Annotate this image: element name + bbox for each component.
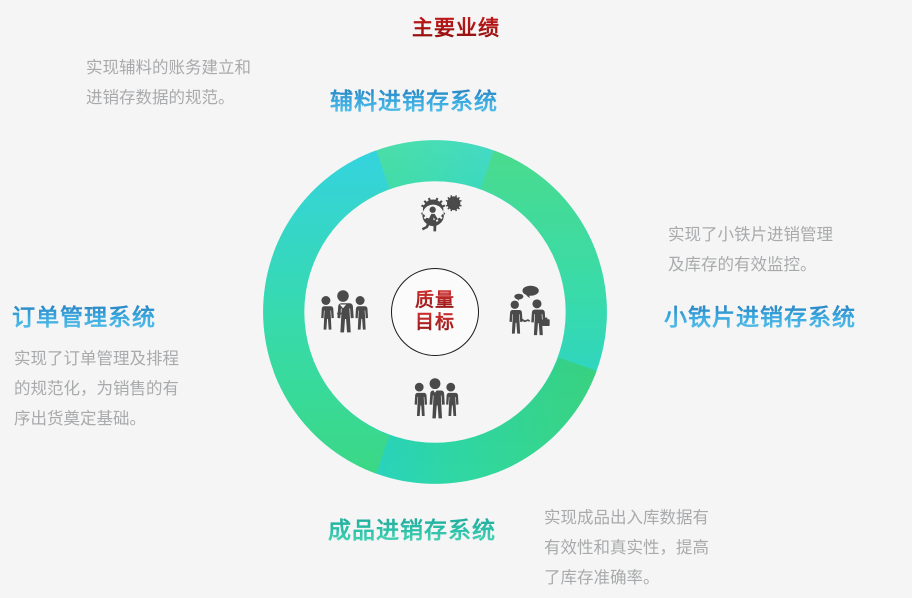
description-right: 实现了小铁片进销管理 及库存的有效监控。 (668, 220, 912, 280)
quadrant-heading-bottom: 成品进销存系统 (328, 511, 496, 545)
description-top: 实现辅料的账务建立和 进销存数据的规范。 (86, 53, 336, 113)
description-bottom: 实现成品出入库数据有 有效性和真实性，提高 了库存准确率。 (544, 503, 774, 593)
quadrant-heading-right: 小铁片进销存系统 (664, 298, 856, 332)
team-three-people-icon (403, 372, 467, 432)
center-label-line1: 质量 (415, 290, 455, 312)
circular-ring-diagram: 质量 目标 (255, 132, 615, 492)
business-group-icon (311, 284, 375, 344)
quadrant-heading-left: 订单管理系统 (12, 298, 156, 332)
quadrant-heading-top: 辅料进销存系统 (330, 82, 498, 116)
page-title: 主要业绩 (0, 12, 912, 42)
description-left: 实现了订单管理及排程 的规范化，为销售的有 序出货奠定基础。 (14, 344, 230, 434)
center-goal-circle: 质量 目标 (391, 268, 479, 356)
handshake-people-icon (495, 282, 559, 342)
center-label-line2: 目标 (415, 312, 455, 334)
gear-person-icon (403, 190, 467, 250)
infographic-canvas: 主要业绩 实现辅料的账务建立和 进销存数据的规范。 实现了小铁片进销管理 及库存… (0, 0, 912, 598)
